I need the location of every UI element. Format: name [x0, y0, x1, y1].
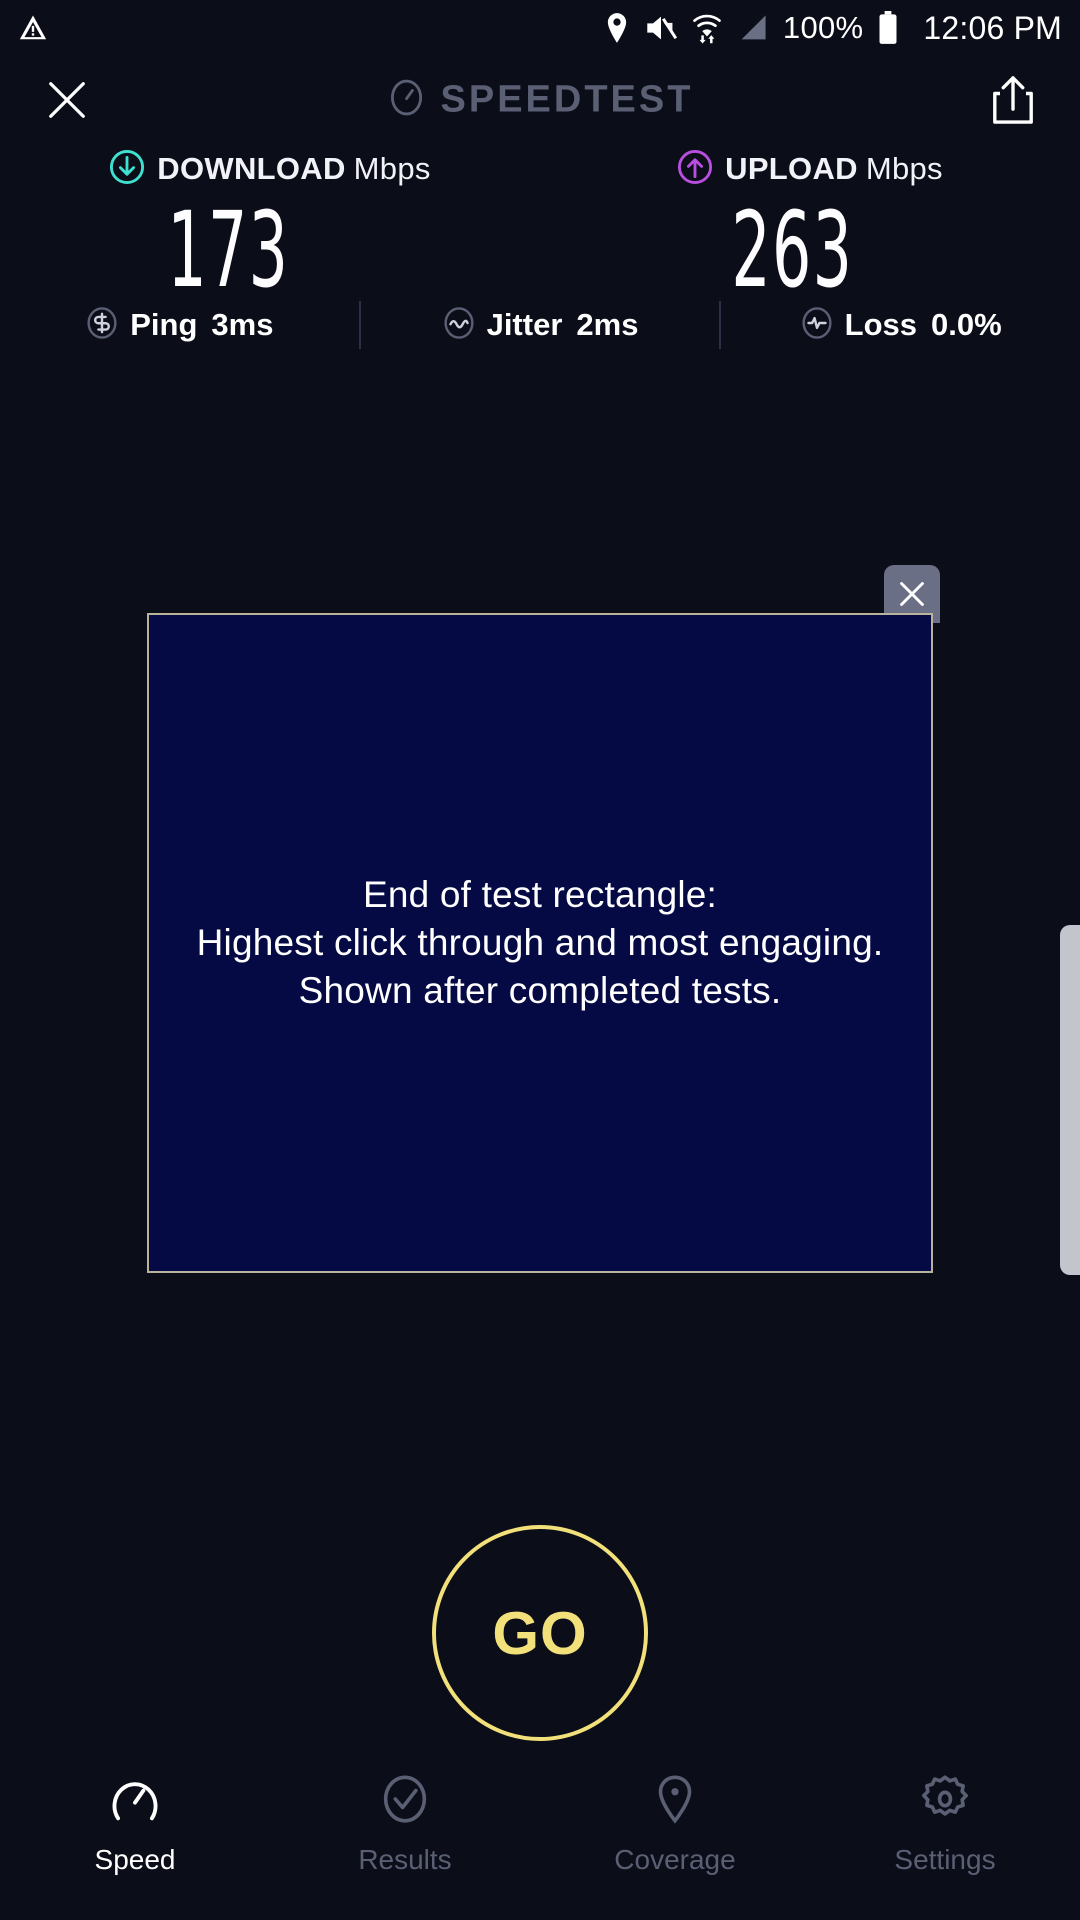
speedtest-app-screen: 100% 12:06 PM SPEEDTEST [0, 0, 1080, 1920]
battery-full-icon [877, 11, 899, 45]
share-button[interactable] [984, 69, 1042, 131]
ad-text-block: End of test rectangle: Highest click thr… [197, 871, 884, 1015]
ad-close-x-icon [895, 577, 929, 611]
nav-label-results: Results [358, 1844, 451, 1876]
page-title: SPEEDTEST [441, 79, 694, 122]
ping-label: Ping [130, 307, 197, 343]
nav-label-speed: Speed [95, 1844, 176, 1876]
jitter-label: Jitter [487, 307, 563, 343]
nav-item-settings[interactable]: Settings [810, 1768, 1080, 1876]
nav-item-results[interactable]: Results [270, 1768, 540, 1876]
bottom-navigation-bar: Speed Results Coverage [0, 1760, 1080, 1920]
jitter-icon [442, 306, 476, 345]
loss-icon [800, 306, 834, 345]
go-button[interactable]: GO [432, 1525, 648, 1741]
nav-label-coverage: Coverage [614, 1844, 735, 1876]
cellular-signal-icon [737, 13, 769, 43]
ping-value: 3ms [211, 307, 273, 343]
metric-jitter: Jitter 2ms [361, 306, 720, 345]
location-pin-icon [603, 12, 631, 44]
upload-unit: Mbps [866, 151, 943, 187]
coverage-pin-icon [646, 1768, 704, 1830]
wifi-icon [691, 11, 723, 45]
app-header: SPEEDTEST [0, 56, 1080, 144]
network-metrics-row: Ping 3ms Jitter 2ms Loss 0.0% [0, 290, 1080, 360]
loss-label: Loss [845, 307, 917, 343]
battery-percent-label: 100% [783, 10, 864, 46]
close-x-icon [42, 75, 92, 125]
results-summary: DOWNLOAD Mbps 173 UPLOAD Mbps [0, 144, 1080, 306]
status-bar-clock: 12:06 PM [923, 10, 1062, 47]
upload-label: UPLOAD [725, 151, 858, 187]
download-value: 173 [167, 196, 289, 305]
close-button[interactable] [36, 69, 98, 131]
share-upload-icon [990, 74, 1036, 126]
nav-label-settings: Settings [894, 1844, 995, 1876]
vertical-scrollbar[interactable] [1060, 925, 1080, 1275]
nav-item-speed[interactable]: Speed [0, 1768, 270, 1876]
metric-ping: Ping 3ms [0, 306, 359, 345]
download-label: DOWNLOAD [157, 151, 345, 187]
advertisement-banner[interactable]: End of test rectangle: Highest click thr… [147, 613, 933, 1273]
status-bar: 100% 12:06 PM [0, 0, 1080, 56]
speedtest-gauge-icon [387, 78, 427, 123]
upload-arrow-circle-icon [677, 149, 713, 190]
ad-line-2: Highest click through and most engaging. [197, 919, 884, 967]
download-result: DOWNLOAD Mbps 173 [0, 144, 540, 306]
metric-loss: Loss 0.0% [721, 306, 1080, 345]
warning-triangle-icon [18, 13, 48, 43]
ad-line-3: Shown after completed tests. [197, 967, 884, 1015]
volume-mute-icon [645, 13, 677, 43]
go-button-label: GO [492, 1599, 587, 1668]
download-arrow-circle-icon [109, 149, 145, 190]
results-check-icon [376, 1768, 434, 1830]
app-title-group: SPEEDTEST [387, 78, 694, 123]
settings-gear-icon [916, 1768, 974, 1830]
loss-value: 0.0% [931, 307, 1002, 343]
nav-item-coverage[interactable]: Coverage [540, 1768, 810, 1876]
upload-value: 263 [731, 196, 853, 305]
speed-gauge-icon [106, 1768, 164, 1830]
ad-line-1: End of test rectangle: [197, 871, 884, 919]
upload-result: UPLOAD Mbps 263 [540, 144, 1080, 306]
ping-icon [85, 306, 119, 345]
jitter-value: 2ms [576, 307, 638, 343]
download-unit: Mbps [354, 151, 431, 187]
